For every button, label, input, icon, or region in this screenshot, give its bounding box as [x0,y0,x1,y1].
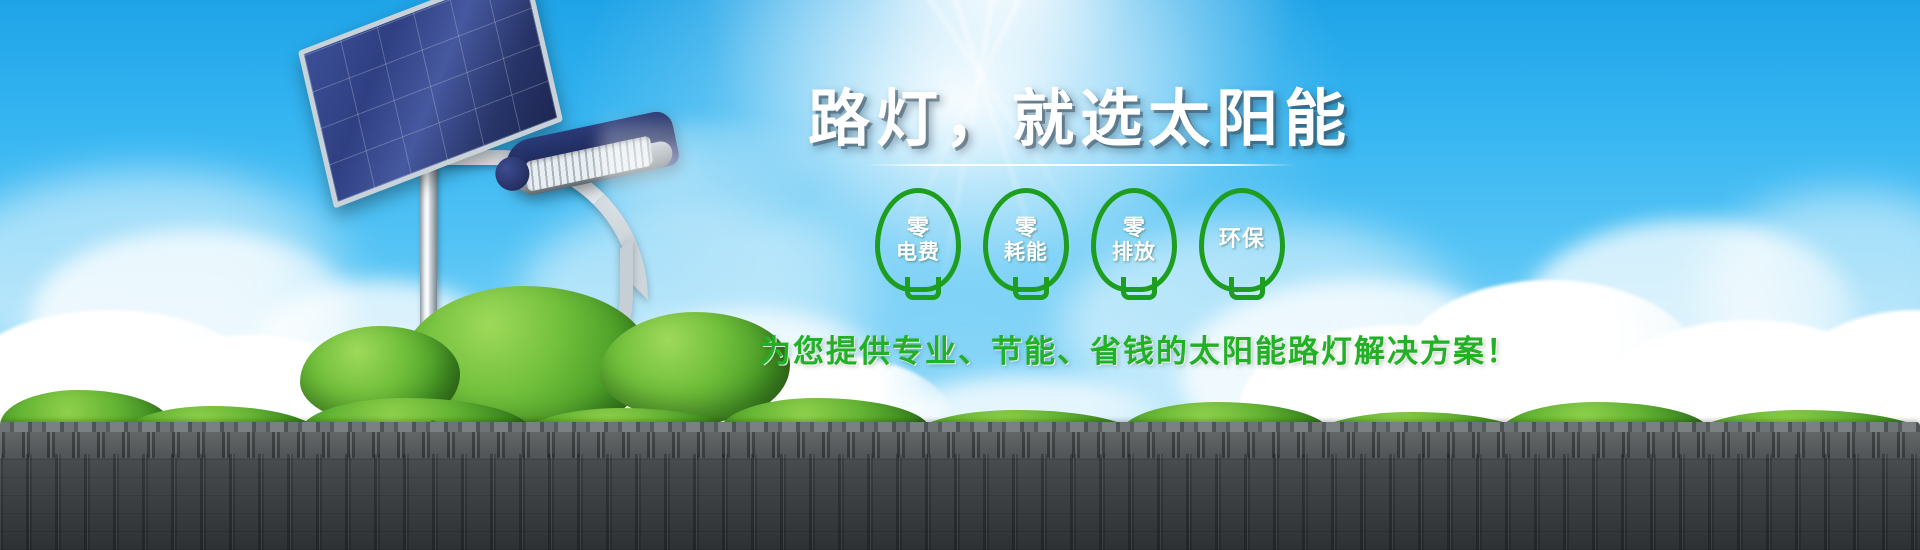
page-title: 路灯，就选太阳能 [760,88,1400,150]
feature-badge-paifang[interactable]: 零 排放 [1091,188,1177,292]
hero-banner: 路灯，就选太阳能 零 电费 零 耗能 零 [0,0,1920,550]
badge-zero-label: 零 [907,217,929,240]
feature-badge-huanbao[interactable]: 环保 [1199,188,1285,292]
hero-text-block: 路灯，就选太阳能 零 电费 零 耗能 零 [760,88,1400,371]
lamp-arm-lower [432,236,633,432]
badge-zero-label: 零 [1015,217,1037,240]
feature-badge-dianfei[interactable]: 零 电费 [875,188,961,292]
badge-text-label: 电费 [896,241,940,263]
title-divider [865,164,1295,166]
badge-zero-label: 零 [1123,217,1145,240]
badge-text-label: 排放 [1112,241,1156,263]
hero-subtitle: 为您提供专业、节能、省钱的太阳能路灯解决方案！ [760,326,1400,371]
feature-badge-haoneng[interactable]: 零 耗能 [983,188,1069,292]
badge-text-label: 耗能 [1004,241,1048,263]
feature-badge-list: 零 电费 零 耗能 零 排放 [760,188,1400,292]
tiled-wall [0,432,1920,550]
badge-text-label: 环保 [1219,228,1265,251]
